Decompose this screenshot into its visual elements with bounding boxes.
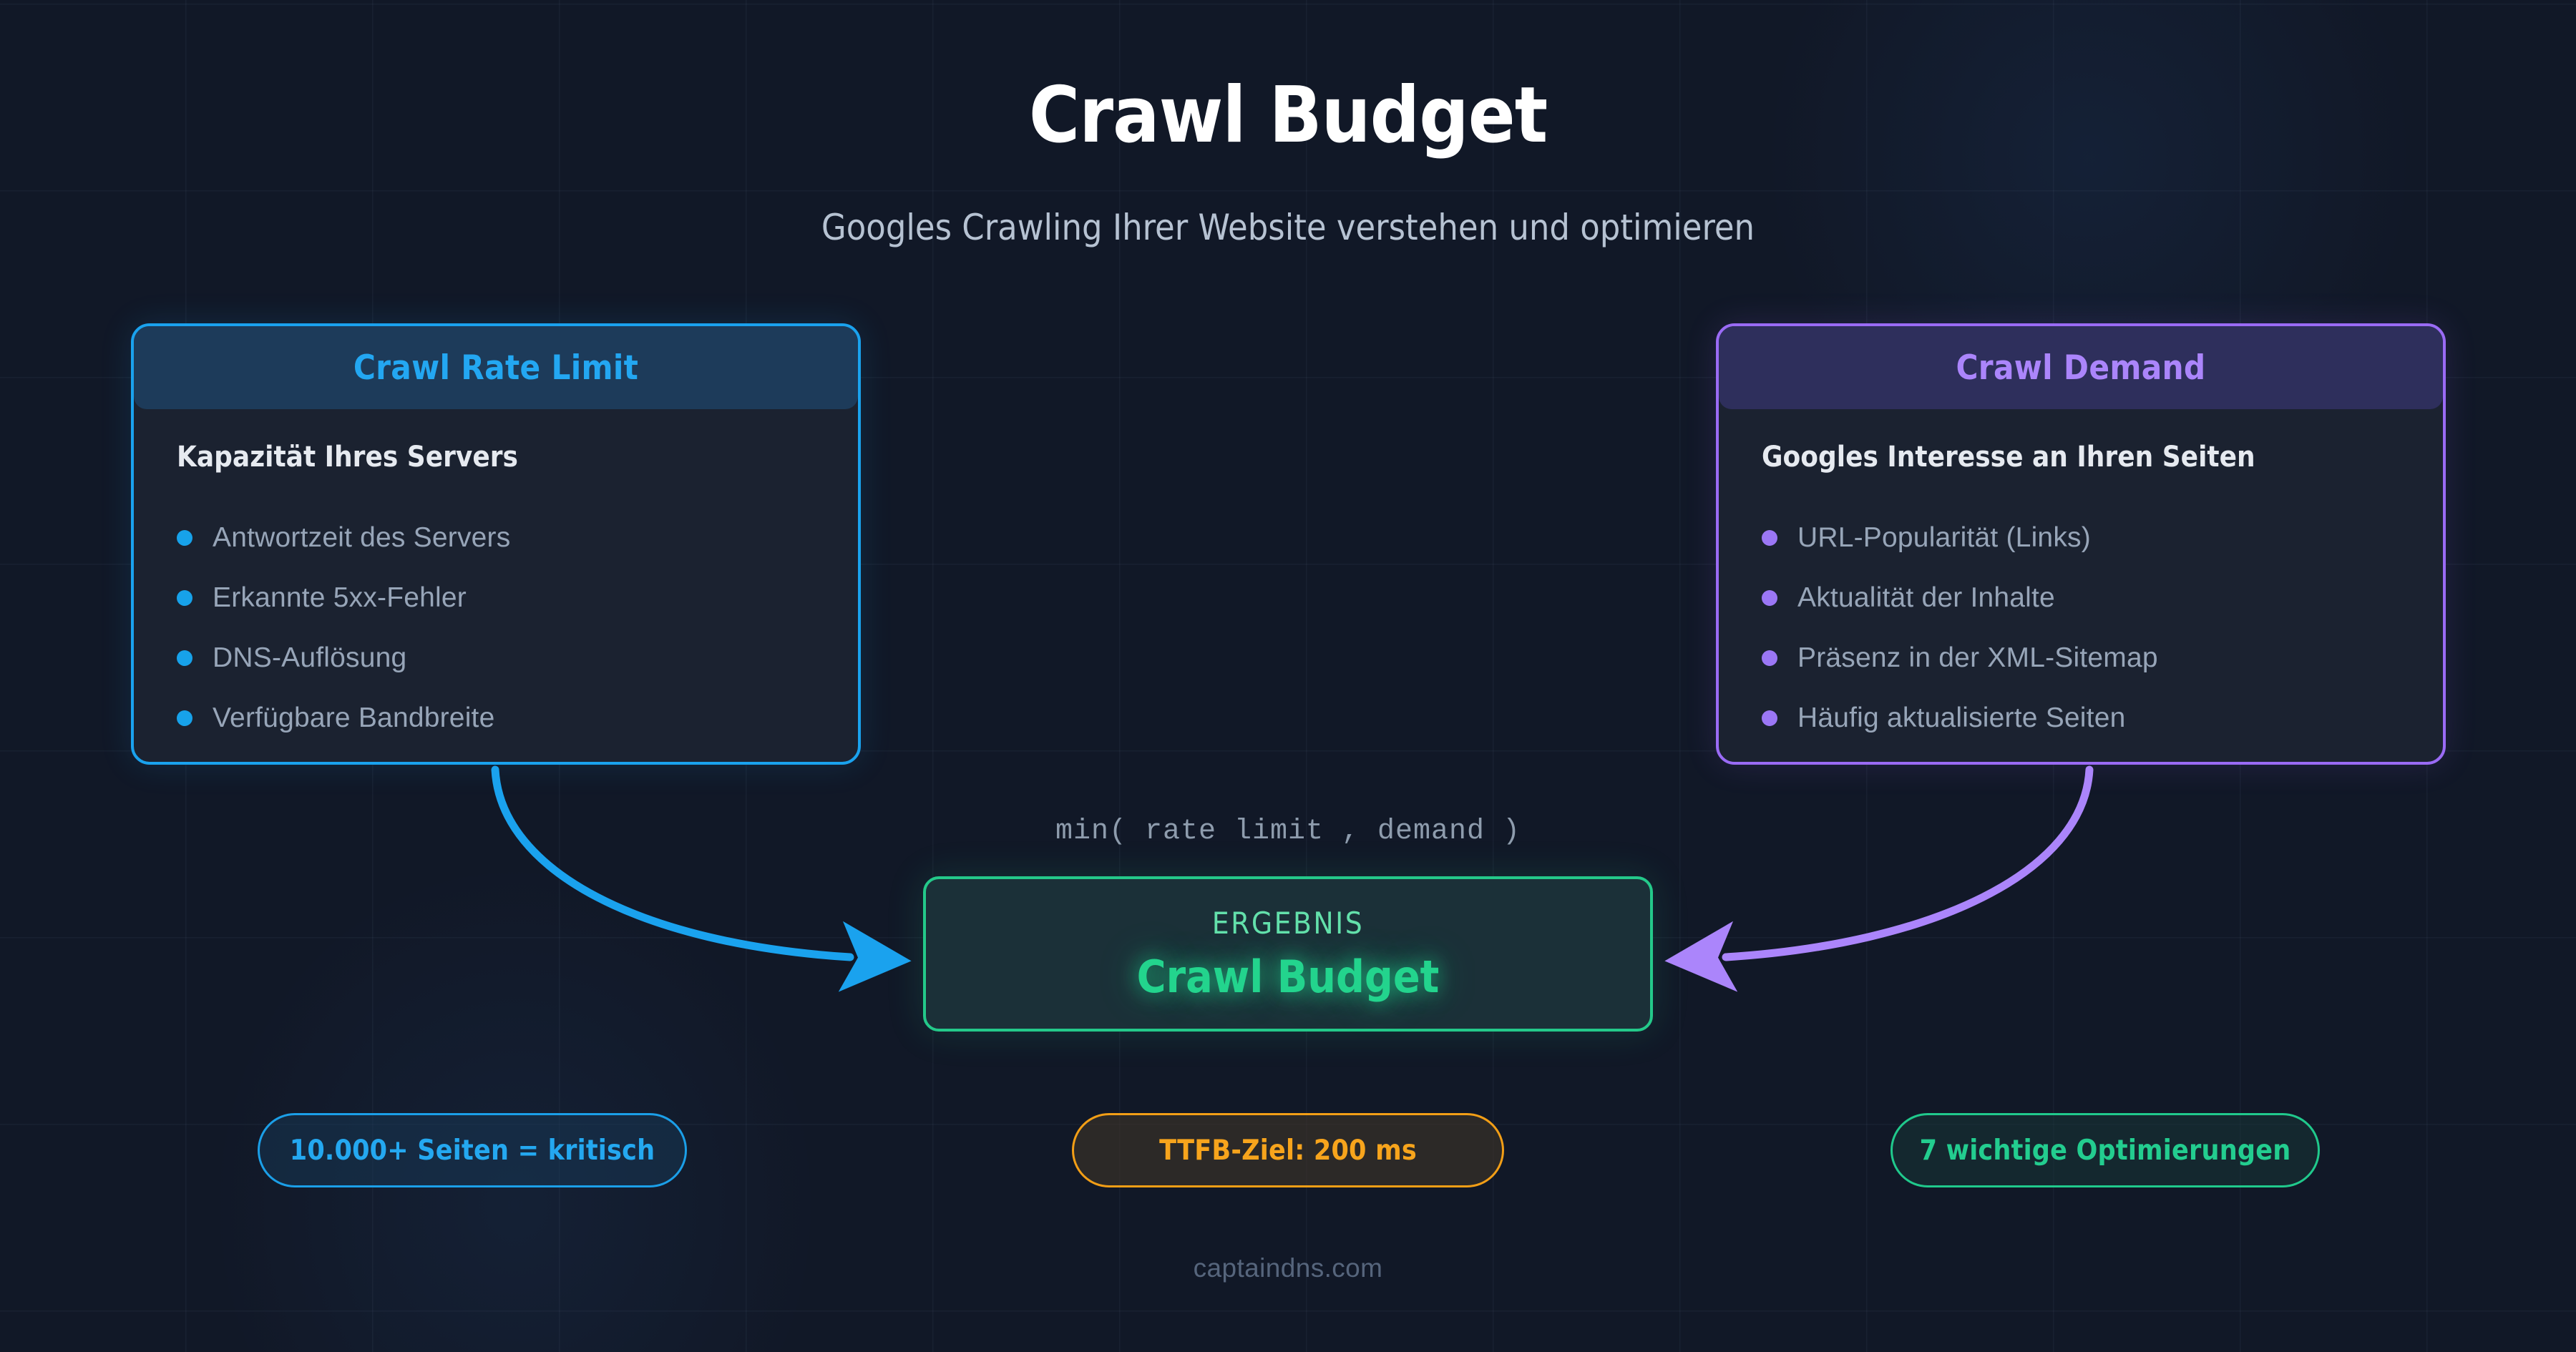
card-body-crawl-demand: Googles Interesse an Ihren Seiten URL-Po… xyxy=(1719,409,2443,748)
card-header-crawl-rate-limit: Crawl Rate Limit xyxy=(134,326,858,409)
bullet-dot-icon xyxy=(1762,650,1777,666)
list-item: Aktualität der Inhalte xyxy=(1762,568,2443,628)
pill-ttfb-target[interactable]: TTFB-Ziel: 200 ms xyxy=(1072,1113,1504,1187)
pill-pages-critical[interactable]: 10.000+ Seiten = kritisch xyxy=(258,1113,687,1187)
bullet-dot-icon xyxy=(1762,590,1777,606)
list-item: Antwortzeit des Servers xyxy=(177,508,858,568)
list-item-label: Präsenz in der XML-Sitemap xyxy=(1797,642,2158,674)
card-title-crawl-rate-limit: Crawl Rate Limit xyxy=(353,348,638,388)
infographic-stage: Crawl Budget Googles Crawling Ihrer Webs… xyxy=(0,0,2576,1352)
result-label: ERGEBNIS xyxy=(1212,906,1365,941)
formula-caption: min( rate limit , demand ) xyxy=(0,815,2576,848)
list-item: Verfügbare Bandbreite xyxy=(177,688,858,748)
bullet-list-crawl-rate-limit: Antwortzeit des Servers Erkannte 5xx-Feh… xyxy=(177,508,858,748)
bullet-dot-icon xyxy=(1762,530,1777,546)
list-item: URL-Popularität (Links) xyxy=(1762,508,2443,568)
result-value: Crawl Budget xyxy=(1137,951,1440,1003)
list-item-label: URL-Popularität (Links) xyxy=(1797,522,2091,554)
list-item: DNS-Auflösung xyxy=(177,628,858,688)
result-box[interactable]: ERGEBNIS Crawl Budget xyxy=(923,876,1653,1032)
bullet-dot-icon xyxy=(1762,710,1777,726)
list-item-label: Häufig aktualisierte Seiten xyxy=(1797,702,2126,734)
pill-optimizations-count[interactable]: 7 wichtige Optimierungen xyxy=(1890,1113,2320,1187)
footer-watermark: captaindns.com xyxy=(0,1253,2576,1283)
list-item-label: Antwortzeit des Servers xyxy=(213,522,510,554)
card-subtitle-crawl-demand: Googles Interesse an Ihren Seiten xyxy=(1762,441,2443,474)
card-crawl-demand[interactable]: Crawl Demand Googles Interesse an Ihren … xyxy=(1716,323,2446,765)
card-header-crawl-demand: Crawl Demand xyxy=(1719,326,2443,409)
page-title: Crawl Budget xyxy=(0,77,2576,155)
card-body-crawl-rate-limit: Kapazität Ihres Servers Antwortzeit des … xyxy=(134,409,858,748)
bullet-dot-icon xyxy=(177,530,192,546)
list-item-label: DNS-Auflösung xyxy=(213,642,406,674)
page-subtitle: Googles Crawling Ihrer Website verstehen… xyxy=(0,206,2576,249)
bullet-list-crawl-demand: URL-Popularität (Links) Aktualität der I… xyxy=(1762,508,2443,748)
bullet-dot-icon xyxy=(177,710,192,726)
list-item: Erkannte 5xx-Fehler xyxy=(177,568,858,628)
card-title-crawl-demand: Crawl Demand xyxy=(1956,348,2205,388)
list-item-label: Verfügbare Bandbreite xyxy=(213,702,495,734)
list-item: Häufig aktualisierte Seiten xyxy=(1762,688,2443,748)
pill-label: 10.000+ Seiten = kritisch xyxy=(290,1135,655,1167)
pill-label: 7 wichtige Optimierungen xyxy=(1920,1135,2291,1167)
list-item-label: Erkannte 5xx-Fehler xyxy=(213,582,467,614)
pill-label: TTFB-Ziel: 200 ms xyxy=(1159,1135,1417,1167)
list-item: Präsenz in der XML-Sitemap xyxy=(1762,628,2443,688)
bullet-dot-icon xyxy=(177,650,192,666)
card-crawl-rate-limit[interactable]: Crawl Rate Limit Kapazität Ihres Servers… xyxy=(131,323,861,765)
bullet-dot-icon xyxy=(177,590,192,606)
list-item-label: Aktualität der Inhalte xyxy=(1797,582,2055,614)
card-subtitle-crawl-rate-limit: Kapazität Ihres Servers xyxy=(177,441,858,474)
